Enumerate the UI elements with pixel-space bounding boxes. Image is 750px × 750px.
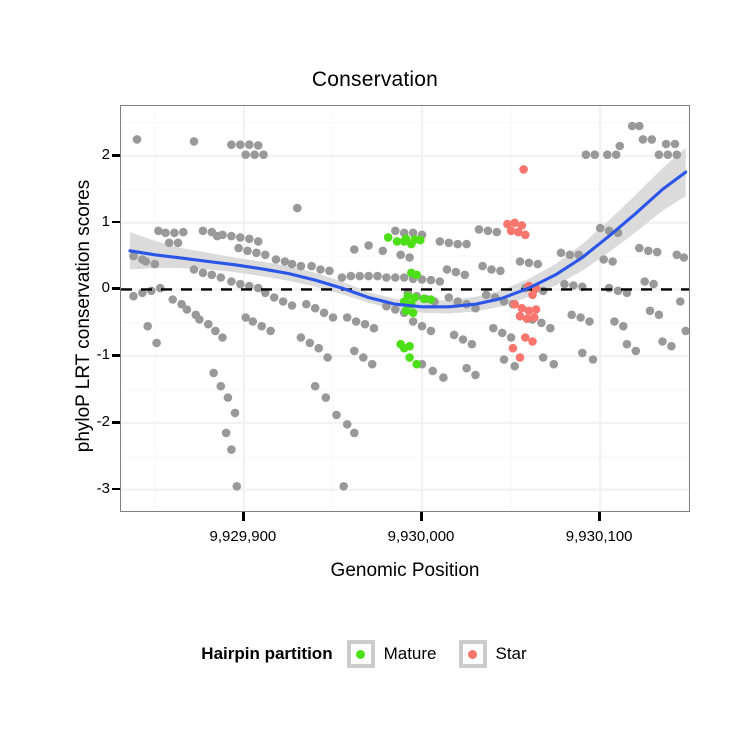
data-point (614, 287, 623, 296)
data-point (174, 239, 183, 248)
data-point (190, 137, 199, 146)
data-point (249, 317, 258, 326)
data-point (498, 329, 507, 338)
data-point (236, 280, 245, 289)
data-point (391, 273, 400, 282)
data-point (311, 304, 320, 313)
data-point (418, 322, 427, 331)
y-tick-label: -3 (82, 481, 110, 496)
y-tick-label: 1 (82, 214, 110, 229)
data-point (582, 150, 591, 159)
data-point (382, 273, 391, 282)
data-point (632, 347, 641, 356)
data-point (550, 360, 559, 369)
data-point (655, 311, 664, 320)
x-axis-title: Genomic Position (120, 560, 690, 582)
data-point (257, 322, 266, 331)
data-point (567, 311, 576, 320)
data-point (297, 262, 306, 271)
data-point (427, 295, 436, 304)
data-point (516, 353, 525, 362)
data-point (339, 482, 348, 491)
data-point (227, 445, 236, 454)
data-point (364, 241, 373, 250)
data-point (443, 265, 452, 274)
data-point (450, 331, 459, 340)
data-point (412, 360, 421, 369)
data-point (648, 135, 657, 144)
data-point (338, 273, 347, 282)
data-point (347, 272, 356, 281)
y-tick-mark (112, 421, 120, 424)
data-point (616, 142, 625, 151)
data-point (546, 324, 555, 333)
y-axis-tick-labels: 210-1-2-3 (60, 0, 110, 750)
x-tick-mark (420, 512, 423, 521)
data-point (412, 271, 421, 280)
data-point (539, 353, 548, 362)
data-point (400, 344, 409, 353)
data-point (640, 277, 649, 286)
data-point (436, 237, 445, 246)
data-point (270, 293, 279, 302)
data-point (578, 349, 587, 358)
data-point (250, 150, 259, 159)
legend-label: Mature (384, 644, 437, 664)
data-point (510, 362, 519, 371)
data-point (576, 313, 585, 322)
data-point (391, 227, 400, 236)
y-tick-mark (112, 354, 120, 357)
x-tick-mark (598, 512, 601, 521)
data-point (311, 382, 320, 391)
data-point (471, 371, 480, 380)
plot-canvas (121, 106, 690, 512)
data-point (266, 327, 275, 336)
data-point (364, 272, 373, 281)
conservation-plot-figure: Conservation phyloP LRT conservation sco… (0, 0, 750, 750)
data-point (168, 295, 177, 304)
data-point (199, 227, 208, 236)
data-point (254, 284, 263, 293)
data-point (507, 333, 516, 342)
legend-key-swatch (347, 640, 375, 668)
y-tick-mark (112, 154, 120, 157)
data-point (254, 237, 263, 246)
data-point (241, 150, 250, 159)
data-point (673, 150, 682, 159)
data-point (453, 240, 462, 249)
data-point (236, 233, 245, 242)
data-point (272, 255, 281, 264)
data-point (680, 253, 689, 262)
data-point (384, 233, 393, 242)
data-point (528, 291, 537, 300)
data-point (231, 409, 240, 418)
data-point (681, 327, 690, 336)
data-point (649, 280, 658, 289)
data-point (161, 229, 170, 238)
data-point (350, 429, 359, 438)
data-point (405, 353, 414, 362)
data-point (217, 382, 226, 391)
data-point (297, 333, 306, 342)
data-point (325, 267, 334, 276)
data-point (129, 292, 138, 301)
data-point (496, 267, 505, 276)
data-point (468, 340, 477, 349)
data-point (409, 309, 418, 318)
data-point (619, 322, 628, 331)
data-point (314, 344, 323, 353)
data-point (489, 324, 498, 333)
data-point (233, 482, 242, 491)
data-point (623, 340, 632, 349)
data-point (445, 239, 454, 248)
data-point (519, 165, 528, 174)
y-tick-label: -2 (82, 414, 110, 429)
data-point (254, 141, 263, 150)
data-point (516, 257, 525, 266)
data-point (350, 245, 359, 254)
data-point (644, 247, 653, 256)
data-point (224, 393, 233, 402)
data-point (405, 253, 414, 262)
y-tick-mark (112, 488, 120, 491)
data-point (671, 140, 680, 149)
data-point (352, 317, 361, 326)
data-point (361, 320, 370, 329)
data-point (560, 280, 569, 289)
data-point (523, 315, 532, 324)
data-point (462, 240, 471, 249)
x-tick-label: 9,930,000 (341, 528, 501, 545)
data-point (603, 150, 612, 159)
data-point (566, 251, 575, 260)
data-point (227, 140, 236, 149)
data-point (204, 320, 213, 329)
data-point (655, 150, 664, 159)
data-point (478, 262, 487, 271)
data-point (667, 342, 676, 351)
data-point (208, 271, 217, 280)
data-point (493, 228, 502, 237)
data-point (599, 255, 608, 264)
data-point (252, 249, 261, 258)
data-point (151, 260, 160, 269)
x-tick-label: 9,929,900 (163, 528, 323, 545)
data-point (407, 240, 416, 249)
data-point (436, 277, 445, 286)
data-point (530, 313, 539, 322)
data-point (293, 204, 302, 213)
y-tick-label: 2 (82, 147, 110, 162)
data-point (509, 344, 518, 353)
data-point (259, 150, 268, 159)
data-point (306, 339, 315, 348)
data-point (329, 313, 338, 322)
data-point (653, 248, 662, 257)
legend-item-star[interactable]: Star (459, 640, 549, 668)
data-point (612, 150, 621, 159)
legend-item-mature[interactable]: Mature (347, 640, 459, 668)
data-point (133, 135, 142, 144)
data-point (534, 260, 543, 269)
data-point (487, 265, 496, 274)
data-point (610, 317, 619, 326)
data-point (605, 284, 614, 293)
data-point (156, 284, 165, 293)
data-point (500, 355, 509, 364)
legend-key-swatch (459, 640, 487, 668)
data-point (635, 122, 644, 131)
data-point (662, 140, 671, 149)
data-point (211, 327, 220, 336)
data-point (183, 305, 192, 314)
legend-dot-icon (356, 650, 365, 659)
data-point (639, 135, 648, 144)
data-point (658, 337, 667, 346)
data-point (537, 319, 546, 328)
data-point (427, 327, 436, 336)
y-tick-mark (112, 221, 120, 224)
data-point (400, 273, 409, 282)
data-point (557, 249, 566, 258)
data-point (320, 309, 329, 318)
plot-panel (120, 105, 690, 512)
data-point (209, 369, 218, 378)
data-point (243, 247, 252, 256)
y-tick-label: 0 (82, 280, 110, 295)
data-point (332, 411, 341, 420)
data-point (608, 257, 617, 266)
data-point (350, 347, 359, 356)
data-point (355, 272, 364, 281)
data-point (525, 259, 534, 268)
data-point (322, 393, 331, 402)
data-point (288, 260, 297, 269)
data-point (227, 232, 236, 241)
page-title: Conservation (0, 68, 750, 92)
data-point (484, 227, 493, 236)
legend-label: Star (496, 644, 527, 664)
data-point (532, 305, 541, 314)
data-point (373, 272, 382, 281)
data-point (142, 257, 151, 266)
legend-title: Hairpin partition (201, 644, 332, 664)
data-point (475, 225, 484, 234)
data-point (452, 268, 461, 277)
data-point (279, 297, 288, 306)
data-point (222, 429, 231, 438)
data-point (461, 271, 470, 280)
data-point (307, 262, 316, 271)
data-point (236, 140, 245, 149)
data-point (218, 333, 227, 342)
data-point (143, 322, 152, 331)
data-point (370, 324, 379, 333)
legend-dot-icon (468, 650, 477, 659)
data-point (409, 317, 418, 326)
data-point (195, 315, 204, 324)
data-point (323, 353, 332, 362)
data-point (245, 140, 254, 149)
data-point (462, 364, 471, 373)
data-point (646, 307, 655, 316)
x-tick-mark (242, 512, 245, 521)
data-point (379, 247, 388, 256)
data-point (521, 231, 530, 240)
data-point (428, 367, 437, 376)
data-point (359, 353, 368, 362)
data-point (302, 300, 311, 309)
data-point (227, 277, 236, 286)
data-point (416, 236, 425, 245)
data-point (343, 420, 352, 429)
x-tick-label: 9,930,100 (519, 528, 679, 545)
data-point (591, 150, 600, 159)
data-point (589, 355, 598, 364)
data-point (218, 231, 227, 240)
data-point (596, 224, 605, 233)
legend-items: MatureStar (347, 640, 549, 668)
data-point (147, 287, 156, 296)
data-point (165, 239, 174, 248)
data-point (635, 244, 644, 253)
data-point (459, 335, 468, 344)
data-point (521, 333, 530, 342)
data-point (343, 313, 352, 322)
data-point (234, 244, 243, 253)
data-point (199, 269, 208, 278)
data-point (664, 150, 673, 159)
y-tick-mark (112, 287, 120, 290)
data-point (170, 229, 179, 238)
data-point (676, 297, 685, 306)
data-point (261, 251, 270, 260)
data-point (152, 339, 161, 348)
data-point (391, 305, 400, 314)
data-point (288, 301, 297, 310)
data-point (439, 373, 448, 382)
data-point (190, 265, 199, 274)
y-tick-label: -1 (82, 347, 110, 362)
data-point (368, 360, 377, 369)
data-point (482, 291, 491, 300)
data-point (396, 251, 405, 260)
data-point (445, 293, 454, 302)
data-point (585, 317, 594, 326)
data-point (427, 276, 436, 285)
legend: Hairpin partition MatureStar (0, 640, 750, 668)
data-point (528, 337, 537, 346)
data-point (179, 228, 188, 237)
data-point (245, 235, 254, 244)
data-point (316, 265, 325, 274)
data-point (217, 273, 226, 282)
